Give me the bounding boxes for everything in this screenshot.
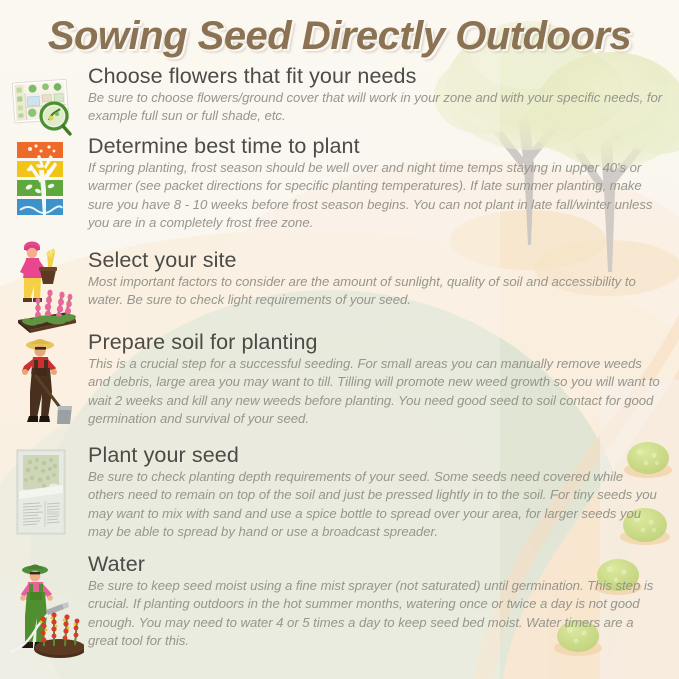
- poster-title-container: Sowing Seed Directly Outdoors: [0, 14, 679, 59]
- step-2-heading: Determine best time to plant: [88, 134, 663, 158]
- magnifier-icon: [41, 103, 70, 134]
- four-seasons-bars-icon: [10, 140, 82, 225]
- step-5-text: Be sure to check planting depth requirem…: [88, 468, 663, 541]
- step-5-heading: Plant your seed: [88, 443, 663, 467]
- step-3-body: Select your site Most important factors …: [88, 248, 663, 310]
- seed-packet-icon: [10, 447, 82, 544]
- step-6-body: Water Be sure to keep seed moist using a…: [88, 552, 663, 650]
- step-6-text: Be sure to keep seed moist using a fine …: [88, 577, 663, 650]
- step-4-text: This is a crucial step for a successful …: [88, 355, 663, 428]
- step-3-heading: Select your site: [88, 248, 663, 272]
- step-6-heading: Water: [88, 552, 663, 576]
- gardener-with-planter-icon: [10, 234, 82, 339]
- step-1-text: Be sure to choose flowers/ground cover t…: [88, 89, 663, 125]
- garden-plan-map-icon: [10, 78, 82, 145]
- page-title: Sowing Seed Directly Outdoors: [48, 14, 631, 59]
- step-3-text: Most important factors to consider are t…: [88, 273, 663, 309]
- gardener-watering-hose-icon: [10, 556, 82, 665]
- step-4-heading: Prepare soil for planting: [88, 330, 663, 354]
- step-2-body: Determine best time to plant If spring p…: [88, 134, 663, 232]
- step-5-body: Plant your seed Be sure to check plantin…: [88, 443, 663, 541]
- step-2-text: If spring planting, frost season should …: [88, 159, 663, 232]
- step-1-body: Choose flowers that fit your needs Be su…: [88, 64, 663, 126]
- step-4-body: Prepare soil for planting This is a cruc…: [88, 330, 663, 428]
- step-1-heading: Choose flowers that fit your needs: [88, 64, 663, 88]
- infographic-poster: Sowing Seed Directly Outdoors: [0, 0, 679, 679]
- farmer-with-shovel-icon: [10, 332, 82, 437]
